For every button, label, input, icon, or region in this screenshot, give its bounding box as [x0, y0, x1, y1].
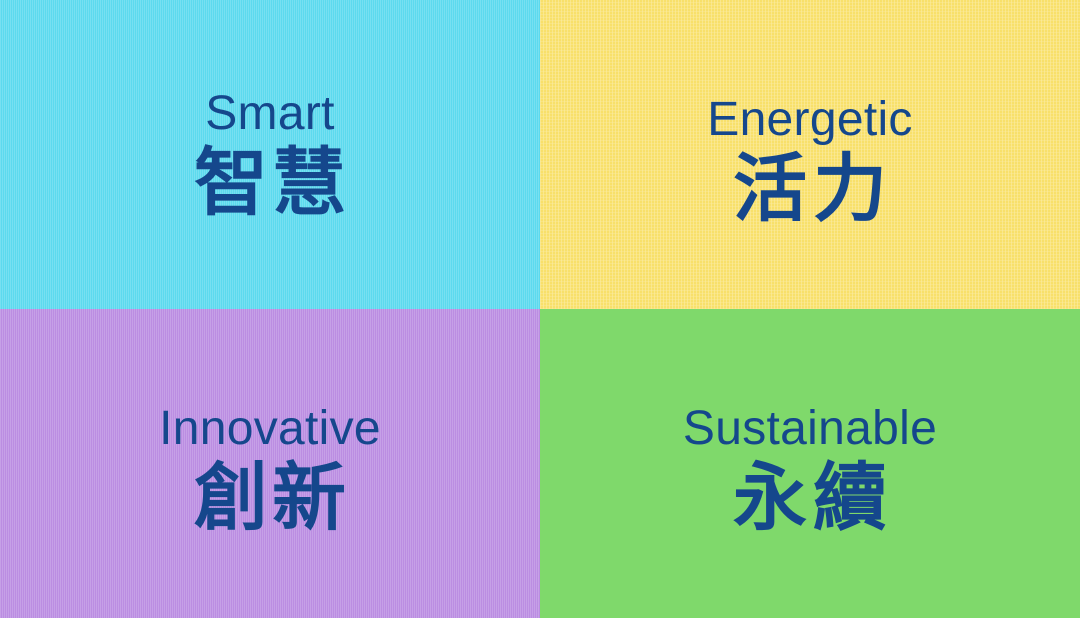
label-stack-sustainable: Sustainable 永續: [683, 405, 937, 538]
label-en-innovative: Innovative: [159, 405, 381, 454]
quadrant-energetic[interactable]: Energetic 活力: [540, 0, 1080, 309]
label-stack-innovative: Innovative 創新: [159, 405, 381, 538]
label-stack-energetic: Energetic 活力: [707, 96, 912, 229]
label-en-energetic: Energetic: [707, 96, 912, 145]
label-cjk-sustainable: 永續: [727, 460, 893, 538]
label-cjk-energetic: 活力: [727, 151, 893, 229]
label-en-sustainable: Sustainable: [683, 405, 937, 454]
brand-values-grid: Smart 智慧 Energetic 活力 Innovative 創新 Sust…: [0, 0, 1080, 618]
quadrant-innovative[interactable]: Innovative 創新: [0, 309, 540, 618]
quadrant-smart[interactable]: Smart 智慧: [0, 0, 540, 309]
quadrant-sustainable[interactable]: Sustainable 永續: [540, 309, 1080, 618]
label-cjk-smart: 智慧: [190, 145, 350, 223]
label-en-smart: Smart: [205, 90, 335, 139]
label-stack-smart: Smart 智慧: [190, 90, 350, 223]
label-cjk-innovative: 創新: [190, 460, 350, 538]
